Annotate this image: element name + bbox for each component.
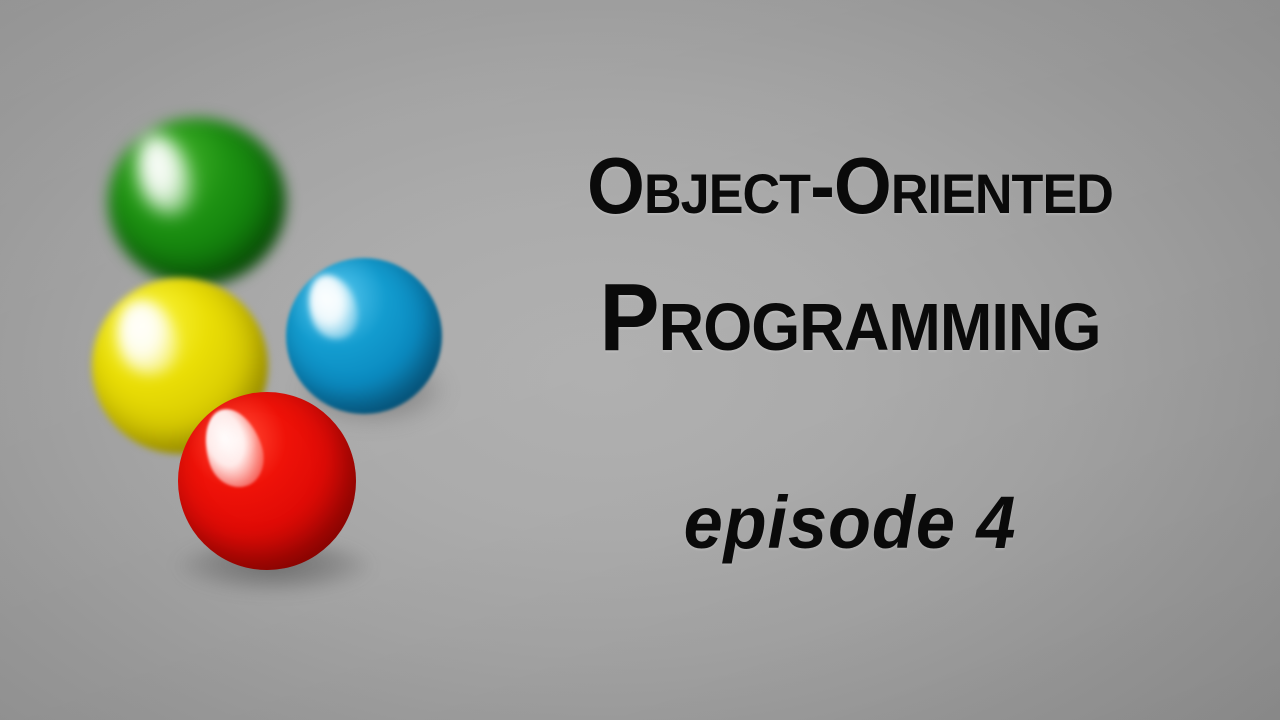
title-card-slide: Object-Oriented Programming episode 4 — [0, 0, 1280, 720]
green-sphere-body — [108, 118, 286, 286]
blue-sphere-body — [286, 258, 442, 414]
episode-label: episode 4 — [489, 486, 1211, 560]
red-sphere-body — [178, 392, 356, 570]
title-line-secondary: Programming — [493, 270, 1207, 366]
green-sphere — [108, 118, 286, 286]
red-sphere — [178, 392, 356, 570]
title-text-block: Object-Oriented Programming episode 4 — [470, 0, 1230, 720]
title-line-primary: Object-Oriented — [497, 146, 1204, 226]
blue-sphere — [286, 258, 442, 414]
